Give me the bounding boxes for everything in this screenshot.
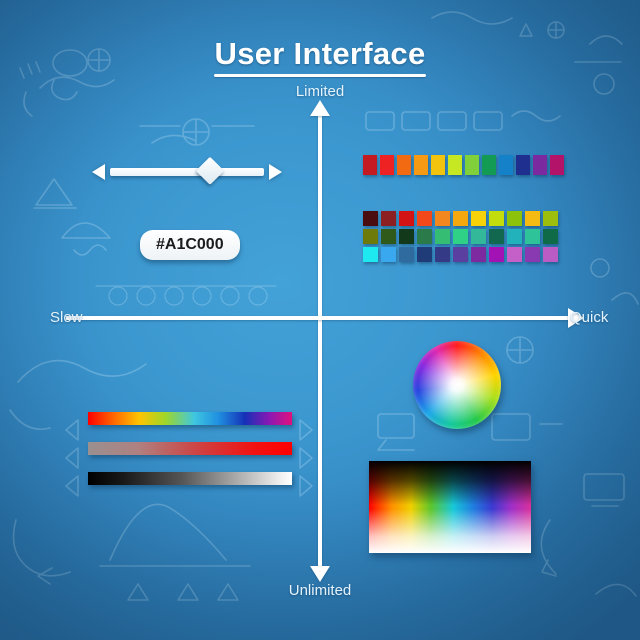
axis-label-top: Limited: [0, 83, 640, 100]
axis-label-right: Quick: [570, 309, 608, 326]
palette-swatch[interactable]: [399, 211, 414, 226]
color-swatch-strip[interactable]: [363, 155, 564, 175]
palette-swatch[interactable]: [381, 211, 396, 226]
palette-row: [363, 247, 558, 262]
palette-swatch[interactable]: [471, 229, 486, 244]
palette-swatch[interactable]: [543, 247, 558, 262]
palette-swatch[interactable]: [507, 211, 522, 226]
palette-swatch[interactable]: [363, 247, 378, 262]
color-swatch[interactable]: [499, 155, 513, 175]
gradient-bar-group[interactable]: [88, 412, 292, 485]
palette-swatch[interactable]: [489, 211, 504, 226]
palette-swatch[interactable]: [381, 247, 396, 262]
palette-swatch[interactable]: [363, 211, 378, 226]
palette-swatch[interactable]: [525, 247, 540, 262]
palette-swatch[interactable]: [399, 229, 414, 244]
palette-swatch[interactable]: [435, 229, 450, 244]
ui-infographic-canvas: User Interface Limited Unlimited Slow Qu…: [0, 0, 640, 640]
range-slider[interactable]: [92, 158, 282, 186]
palette-swatch[interactable]: [363, 229, 378, 244]
palette-row: [363, 211, 558, 226]
color-wheel[interactable]: [413, 341, 501, 429]
color-swatch[interactable]: [380, 155, 394, 175]
palette-swatch[interactable]: [417, 229, 432, 244]
saturation-gradient-bar[interactable]: [88, 442, 292, 455]
axis-label-bottom: Unlimited: [0, 582, 640, 599]
palette-swatch[interactable]: [435, 247, 450, 262]
arrow-up-icon: [310, 100, 330, 116]
palette-swatch[interactable]: [543, 229, 558, 244]
axis-group: Limited Unlimited Slow Quick: [0, 0, 640, 640]
color-swatch[interactable]: [414, 155, 428, 175]
vertical-axis: [318, 112, 322, 572]
hex-color-badge[interactable]: #A1C000: [140, 230, 240, 260]
hue-gradient-bar[interactable]: [88, 412, 292, 425]
color-swatch[interactable]: [533, 155, 547, 175]
color-swatch[interactable]: [482, 155, 496, 175]
slider-handle[interactable]: [196, 157, 224, 185]
palette-swatch[interactable]: [435, 211, 450, 226]
slider-increase-arrow-icon[interactable]: [269, 164, 282, 180]
palette-swatch[interactable]: [507, 229, 522, 244]
brightness-gradient-bar[interactable]: [88, 472, 292, 485]
axis-label-left: Slow: [50, 309, 83, 326]
palette-swatch[interactable]: [471, 211, 486, 226]
palette-row: [363, 229, 558, 244]
slider-decrease-arrow-icon[interactable]: [92, 164, 105, 180]
horizontal-axis: [66, 316, 574, 320]
palette-swatch[interactable]: [489, 229, 504, 244]
palette-swatch[interactable]: [471, 247, 486, 262]
palette-swatch[interactable]: [453, 211, 468, 226]
palette-swatch[interactable]: [453, 229, 468, 244]
palette-swatch[interactable]: [525, 229, 540, 244]
color-swatch[interactable]: [550, 155, 564, 175]
palette-swatch[interactable]: [381, 229, 396, 244]
palette-swatch[interactable]: [417, 247, 432, 262]
palette-swatch[interactable]: [525, 211, 540, 226]
color-swatch[interactable]: [431, 155, 445, 175]
palette-swatch[interactable]: [507, 247, 522, 262]
color-swatch[interactable]: [465, 155, 479, 175]
arrow-down-icon: [310, 566, 330, 582]
palette-swatch[interactable]: [489, 247, 504, 262]
color-swatch[interactable]: [516, 155, 530, 175]
color-field[interactable]: [369, 461, 531, 553]
color-swatch[interactable]: [397, 155, 411, 175]
palette-swatch[interactable]: [417, 211, 432, 226]
slider-track[interactable]: [110, 168, 264, 176]
palette-swatch[interactable]: [543, 211, 558, 226]
palette-swatch[interactable]: [453, 247, 468, 262]
color-swatch[interactable]: [363, 155, 377, 175]
palette-swatch[interactable]: [399, 247, 414, 262]
color-swatch[interactable]: [448, 155, 462, 175]
color-palette-grid[interactable]: [363, 211, 558, 262]
